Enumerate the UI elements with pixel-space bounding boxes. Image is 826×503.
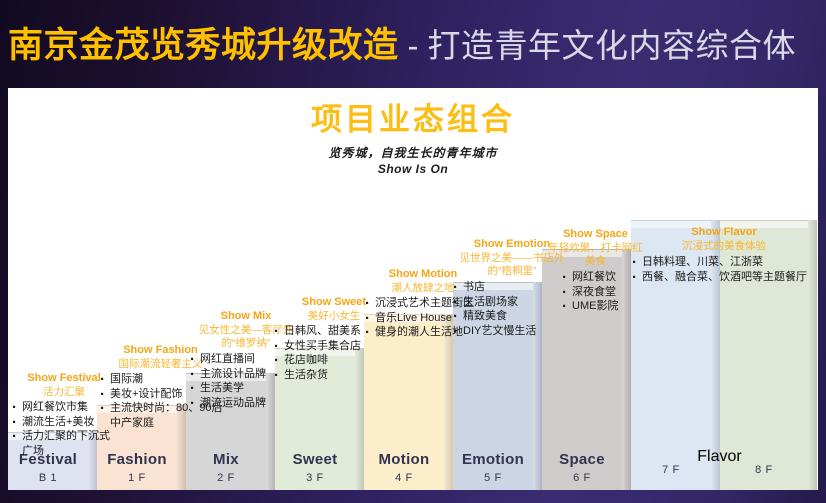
list-item: 西餐、融合菜、饮酒吧等主题餐厅 xyxy=(630,270,818,285)
step-space-name: Space xyxy=(559,452,605,469)
step-mix-label: Mix 2 F xyxy=(186,446,266,490)
step-festival-floor: B 1 xyxy=(39,472,57,484)
annotation-space-subtitle: 年轻欢聚、打卡网红美食 xyxy=(548,242,643,269)
slide-title-dash: - xyxy=(408,29,419,62)
annotation-flavor: Show Flavor 沉浸式的美食体验 日韩料理、川菜、江浙菜 西餐、融合菜、… xyxy=(630,226,818,284)
step-space-floor: 6 F xyxy=(573,472,591,484)
step-emotion-floor: 5 F xyxy=(484,472,502,484)
list-item: 女性买手集合店 xyxy=(272,339,396,354)
list-item: 生活美学 xyxy=(188,381,304,396)
annotation-space: Show Space 年轻欢聚、打卡网红美食 网红餐饮 深夜食堂 UME影院 xyxy=(548,228,643,314)
step-fashion-floor: 1 F xyxy=(128,472,146,484)
list-item: 深夜食堂 xyxy=(560,285,643,300)
annotation-space-title: Show Space xyxy=(548,228,643,242)
step-flavor-name: Flavor xyxy=(697,448,741,465)
list-item: 生活杂货 xyxy=(272,368,396,383)
step-emotion-label: Emotion 5 F xyxy=(453,446,533,490)
step-sweet-label: Sweet 3 F xyxy=(275,446,355,490)
annotation-flavor-title: Show Flavor xyxy=(630,226,818,240)
step-flavor-name-wrap: Flavor xyxy=(631,448,808,466)
list-item: UME影院 xyxy=(560,299,643,314)
step-emotion-name: Emotion xyxy=(462,452,524,469)
step-space-label: Space 6 F xyxy=(542,446,622,490)
slide-title: 南京金茂览秀城升级改造 - 打造青年文化内容综合体 xyxy=(8,16,820,74)
step-mix-floor: 2 F xyxy=(217,472,235,484)
step-motion-name: Motion xyxy=(379,452,430,469)
slide-canvas: 项目业态组合 览秀城，自我生长的青年城市 Show Is On Festival… xyxy=(8,88,818,490)
annotation-flavor-subtitle: 沉浸式的美食体验 xyxy=(630,240,818,254)
step-sweet-floor: 3 F xyxy=(306,472,324,484)
step-sweet-name: Sweet xyxy=(293,452,338,469)
step-mix-name: Mix xyxy=(213,452,239,469)
step-motion-label: Motion 4 F xyxy=(364,446,444,490)
annotation-flavor-list: 日韩料理、川菜、江浙菜 西餐、融合菜、饮酒吧等主题餐厅 xyxy=(630,255,818,284)
list-item: 潮流运动品牌 xyxy=(188,396,304,411)
slide-title-sub: 打造青年文化内容综合体 xyxy=(428,29,797,62)
step-motion-floor: 4 F xyxy=(395,472,413,484)
list-item: 日韩料理、川菜、江浙菜 xyxy=(630,255,818,270)
list-item: DIY艺文慢生活 xyxy=(451,324,573,339)
list-item: 花店咖啡 xyxy=(272,353,396,368)
slide-title-main: 南京金茂览秀城升级改造 xyxy=(8,28,399,63)
list-item: 活力汇聚的下沉式广场 xyxy=(10,429,118,458)
step-motion-side xyxy=(444,314,453,490)
